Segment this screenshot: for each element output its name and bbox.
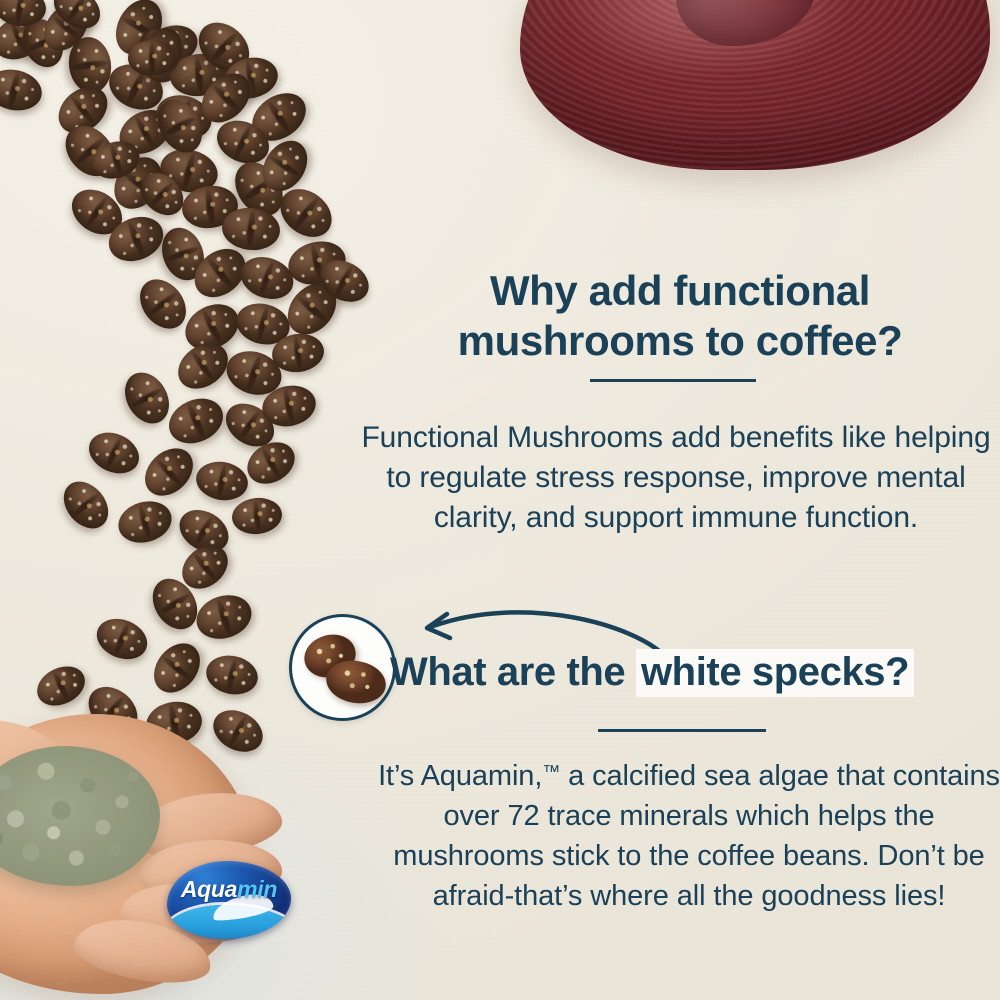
- page-title-section-two: What are the white specks?: [390, 650, 1000, 694]
- headline-plain-text: What are the: [390, 650, 636, 694]
- coffee-bean: [128, 40, 176, 76]
- hand-holding-aquamin-granules: [0, 690, 344, 1000]
- aquamin-logo-text-min: min: [237, 876, 277, 902]
- aquamin-logo-text: Aquamin: [167, 878, 291, 901]
- zoomed-coffee-beans-callout: [289, 614, 396, 721]
- infographic-poster: Aquamin Why add functional mushrooms to …: [0, 0, 1000, 1000]
- reishi-mushroom-image: [500, 0, 1000, 250]
- divider-section-one: [590, 379, 756, 382]
- aquamin-logo: Aquamin: [167, 861, 291, 939]
- body-text-section-two: It’s Aquamin,™ a calcified sea algae tha…: [378, 756, 1000, 916]
- aquamin-wave-icon: [167, 905, 291, 939]
- headline-line-2: mushrooms to coffee?: [370, 316, 990, 366]
- page-title-section-one: Why add functional mushrooms to coffee?: [370, 266, 990, 365]
- divider-section-two: [598, 729, 766, 732]
- headline-line-1: Why add functional: [370, 266, 990, 316]
- body-text-section-one: Functional Mushrooms add benefits like h…: [352, 418, 1000, 538]
- body-text-before-tm: It’s Aquamin,: [378, 760, 542, 792]
- headline-highlighted-text: white specks?: [636, 649, 914, 697]
- aquamin-logo-text-aqua: Aqua: [181, 876, 237, 902]
- trademark-symbol: ™: [542, 761, 560, 781]
